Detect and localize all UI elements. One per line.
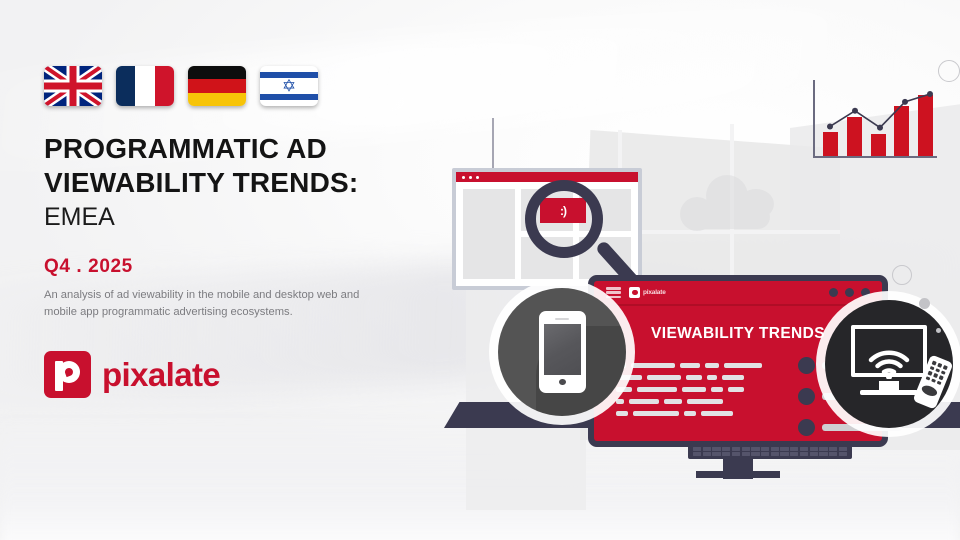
- flag-row: ✡: [44, 66, 464, 106]
- pixalate-wordmark: pixalate: [102, 358, 220, 391]
- bar-chart: [813, 80, 937, 158]
- pixalate-logo-mark-icon: [629, 287, 640, 298]
- smartphone-icon: [539, 311, 586, 393]
- pixalate-logo: pixalate: [44, 351, 464, 398]
- magnifying-glass-icon: [525, 180, 603, 258]
- monitor-foot: [696, 471, 780, 478]
- keyboard: [688, 444, 852, 459]
- monitor-logo-text: pixalate: [643, 289, 666, 296]
- title-line-2: VIEWABILITY TRENDS:: [44, 167, 358, 198]
- monitor-pixalate-logo: pixalate: [629, 287, 666, 298]
- flag-israel-icon: ✡: [260, 66, 318, 106]
- quarter-label: Q4 . 2025: [44, 256, 464, 278]
- hamburger-menu-icon[interactable]: [606, 287, 621, 298]
- hero-illustration: :) pixalate: [430, 40, 960, 460]
- region-subtitle: EMEA: [44, 202, 464, 232]
- monitor-text-lines: [616, 363, 812, 423]
- title-line-1: PROGRAMMATIC AD: [44, 133, 327, 164]
- slide-canvas: ✡ PROGRAMMATIC AD VIEWABILITY TRENDS: EM…: [0, 0, 960, 540]
- flag-germany-icon: [188, 66, 246, 106]
- decorative-ring: [892, 265, 912, 285]
- title-block: ✡ PROGRAMMATIC AD VIEWABILITY TRENDS: EM…: [44, 66, 464, 398]
- decorative-ring: [938, 60, 960, 82]
- flag-united-kingdom-icon: [44, 66, 102, 106]
- background-cloud-icon: [680, 175, 792, 237]
- connected-tv-icon: [843, 325, 935, 403]
- decorative-dot: [936, 328, 941, 333]
- mobile-phone-badge: [498, 288, 626, 416]
- chart-trend-line: [813, 80, 937, 158]
- decorative-dot: [919, 298, 930, 309]
- connected-tv-badge: [825, 300, 953, 428]
- flag-france-icon: [116, 66, 174, 106]
- pixalate-logo-mark-icon: [44, 351, 91, 398]
- description-text: An analysis of ad viewability in the mob…: [44, 287, 374, 321]
- page-title: PROGRAMMATIC AD VIEWABILITY TRENDS:: [44, 132, 464, 200]
- wifi-icon: [868, 349, 910, 379]
- monitor-app-header: pixalate: [594, 281, 882, 306]
- monitor-window-dots: [829, 288, 870, 297]
